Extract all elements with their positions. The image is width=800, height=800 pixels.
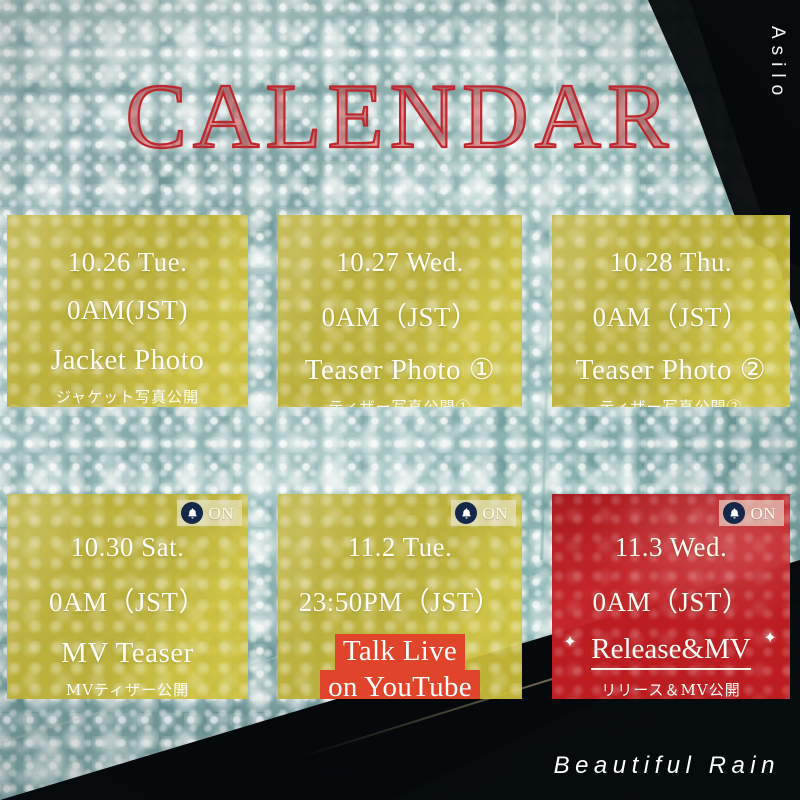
card-title-en-line1: Talk Live bbox=[335, 634, 465, 670]
card-time: 0AM（JST） bbox=[552, 295, 790, 334]
card-title-en-wrap: ✦ Release&MV ✦ bbox=[552, 619, 790, 670]
song-title-tag: Beautiful Rain bbox=[554, 752, 780, 780]
card-title-en-text: Release&MV bbox=[591, 633, 750, 665]
card-title-en: Jacket Photo bbox=[7, 344, 248, 377]
card-title-en: ✦ Release&MV ✦ bbox=[591, 633, 750, 670]
card-title-en: Teaser Photo ② bbox=[552, 352, 790, 387]
notification-badge[interactable]: ON bbox=[719, 500, 784, 526]
card-title-jp: ジャケット写真公開 bbox=[7, 386, 248, 407]
badge-label: ON bbox=[208, 505, 234, 522]
badge-label: ON bbox=[750, 505, 776, 522]
sparkle-icon-left: ✦ bbox=[563, 635, 576, 651]
card-title-jp: リリース＆MV公開 bbox=[552, 679, 790, 699]
bell-icon bbox=[455, 502, 477, 524]
card-time: 0AM（JST） bbox=[7, 580, 248, 619]
card-date: 11.3 Wed. bbox=[552, 532, 790, 563]
calendar-poster: CALENDAR Asilo 10.26 Tue. 0AM(JST) Jacke… bbox=[0, 0, 800, 800]
sparkle-icon-right: ✦ bbox=[763, 631, 776, 647]
card-title-en: MV Teaser bbox=[7, 637, 248, 670]
card-time: 23:50PM（JST） bbox=[278, 580, 522, 619]
card-title-en: Teaser Photo ① bbox=[278, 352, 522, 387]
card-date: 10.27 Wed. bbox=[278, 247, 522, 278]
schedule-grid: 10.26 Tue. 0AM(JST) Jacket Photo ジャケット写真… bbox=[0, 0, 800, 800]
card-title-jp: MVティザー公開 bbox=[7, 679, 248, 699]
card-time: 0AM（JST） bbox=[278, 295, 522, 334]
bell-icon bbox=[181, 502, 203, 524]
card-date: 10.26 Tue. bbox=[7, 247, 248, 278]
schedule-card-jacket-photo[interactable]: 10.26 Tue. 0AM(JST) Jacket Photo ジャケット写真… bbox=[7, 215, 248, 407]
card-title-jp: ティザー写真公開② bbox=[552, 396, 790, 407]
card-title-jp: ティザー写真公開① bbox=[278, 396, 522, 407]
schedule-card-talk-live[interactable]: ON 11.2 Tue. 23:50PM（JST） Talk Live on Y… bbox=[278, 494, 522, 699]
card-date: 10.30 Sat. bbox=[7, 532, 248, 563]
schedule-card-mv-teaser[interactable]: ON 10.30 Sat. 0AM（JST） MV Teaser MVティザー公… bbox=[7, 494, 248, 699]
bell-icon bbox=[723, 502, 745, 524]
card-date: 10.28 Thu. bbox=[552, 247, 790, 278]
card-date: 11.2 Tue. bbox=[278, 532, 522, 563]
card-title-en-highlighted: Talk Live on YouTube bbox=[278, 634, 522, 699]
card-time: 0AM(JST) bbox=[7, 295, 248, 326]
notification-badge[interactable]: ON bbox=[177, 500, 242, 526]
schedule-card-teaser-photo-1[interactable]: 10.27 Wed. 0AM（JST） Teaser Photo ① ティザー写… bbox=[278, 215, 522, 407]
card-title-en-line2: on YouTube bbox=[320, 670, 480, 699]
badge-label: ON bbox=[482, 505, 508, 522]
schedule-card-release-mv[interactable]: ON 11.3 Wed. 0AM（JST） ✦ Release&MV ✦ リリー… bbox=[552, 494, 790, 699]
schedule-card-teaser-photo-2[interactable]: 10.28 Thu. 0AM（JST） Teaser Photo ② ティザー写… bbox=[552, 215, 790, 407]
card-time: 0AM（JST） bbox=[552, 580, 790, 619]
notification-badge[interactable]: ON bbox=[451, 500, 516, 526]
